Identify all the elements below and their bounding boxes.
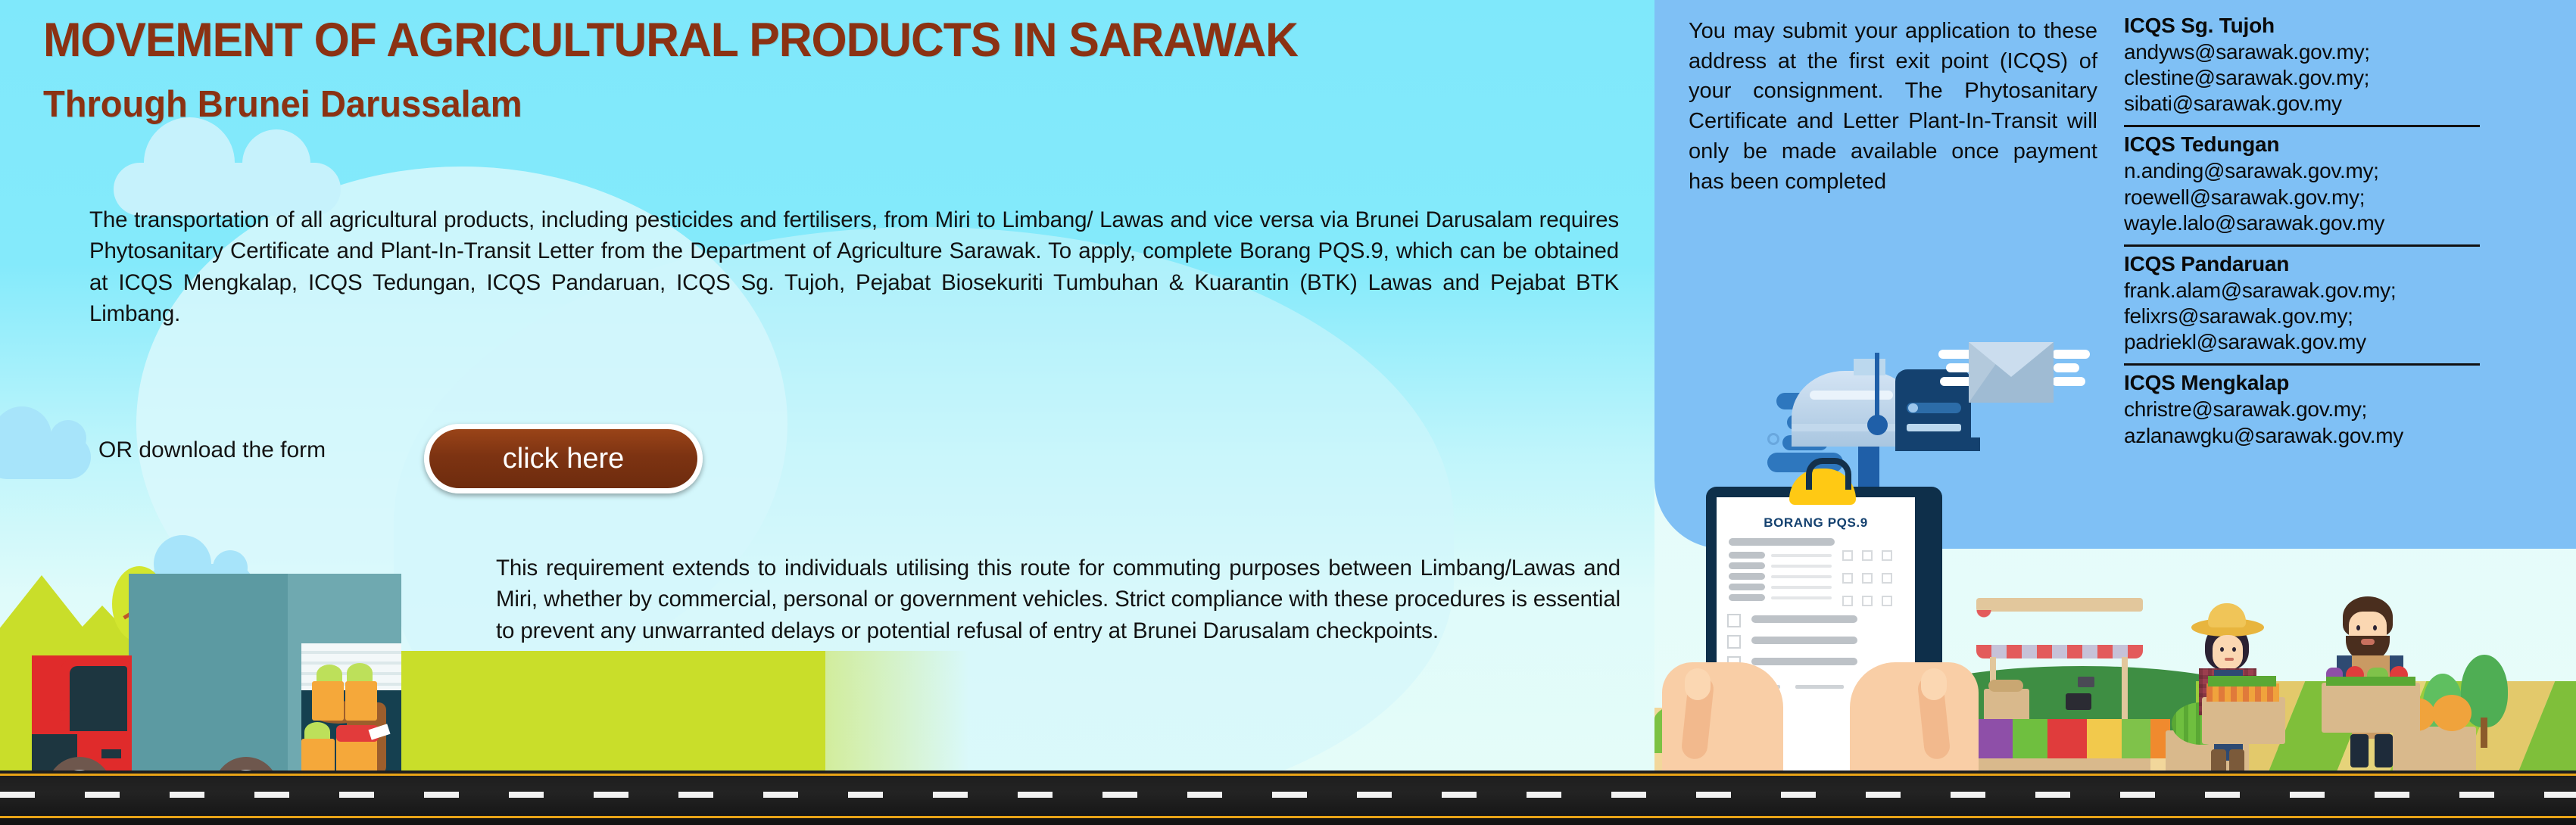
contact-block: ICQS Tedungan n.anding@sarawak.gov.my; r… (2124, 125, 2480, 240)
farmer-m-boot-right (2375, 734, 2393, 767)
cargo-box-2 (345, 681, 377, 721)
form-checkbox[interactable] (1882, 596, 1892, 606)
banner-canvas: MOVEMENT OF AGRICULTURAL PRODUCTS IN SAR… (0, 0, 2576, 825)
bubble-ring-1 (1767, 433, 1779, 445)
thumb-left-tip (1685, 668, 1711, 700)
form-bar (1751, 658, 1857, 665)
tree-trunk-right-large (2481, 718, 2487, 748)
form-bar (1729, 594, 1765, 601)
farmer-m-crate (2322, 683, 2420, 733)
form-bar (1751, 615, 1857, 623)
farmer-m-eye-right (2373, 625, 2377, 630)
form-checkbox-large[interactable] (1727, 614, 1741, 627)
farmer-f-mouth (2225, 658, 2234, 661)
form-bar-heading (1729, 538, 1835, 546)
farmer-f-crate (2202, 697, 2285, 744)
thumb-right-tip (1921, 668, 1947, 700)
stall-awning (1976, 610, 2143, 649)
produce-cucumber (2013, 719, 2047, 758)
form-checkbox[interactable] (1882, 550, 1892, 561)
contact-office-name: ICQS Mengkalap (2124, 371, 2480, 395)
panel-note-text: You may submit your application to these… (1689, 17, 2097, 197)
contact-block: ICQS Mengkalap christre@sarawak.gov.my; … (2124, 363, 2480, 453)
scale-display (2078, 677, 2094, 687)
form-checkbox[interactable] (1842, 550, 1853, 561)
grass-field-fade (651, 651, 969, 776)
form-title: BORANG PQS.9 (1717, 515, 1915, 531)
click-here-button[interactable]: click here (424, 424, 703, 493)
download-form-label: OR download the form (98, 437, 326, 463)
truck-mirror (59, 710, 70, 734)
form-line (1771, 565, 1832, 568)
body-paragraph-secondary: This requirement extends to individuals … (496, 553, 1620, 646)
cargo-box-3 (301, 739, 335, 775)
contact-email[interactable]: roewell@sarawak.gov.my; (2124, 185, 2480, 210)
mailbox-flag (1854, 359, 1885, 375)
form-bar (1751, 637, 1857, 644)
contact-list: ICQS Sg. Tujoh andyws@sarawak.gov.my; cl… (2124, 14, 2480, 453)
road-edge-bottom (0, 816, 2576, 818)
contact-block: ICQS Pandaruan frank.alam@sarawak.gov.my… (2124, 244, 2480, 360)
produce-tomato (2047, 719, 2087, 758)
road-center-dashes (0, 792, 2576, 798)
contact-email[interactable]: azlanawgku@sarawak.gov.my (2124, 423, 2480, 449)
road-edge-top (0, 774, 2576, 776)
stall-sack (1988, 680, 2023, 692)
female-farmer-icon (2188, 602, 2302, 776)
form-line (1771, 554, 1832, 557)
farmer-m-boot-left (2350, 734, 2369, 767)
contact-office-name: ICQS Pandaruan (2124, 252, 2480, 276)
contact-email[interactable]: sibati@sarawak.gov.my (2124, 91, 2480, 117)
farmer-f-greens (2208, 676, 2276, 686)
clipboard-clip-icon (1789, 469, 1856, 505)
contact-email[interactable]: christre@sarawak.gov.my; (2124, 397, 2480, 422)
form-line (1771, 586, 1832, 589)
truck-window (70, 666, 127, 731)
contact-email[interactable]: frank.alam@sarawak.gov.my; (2124, 278, 2480, 304)
market-stall-icon (1976, 598, 2143, 734)
truck-door-handle (101, 749, 121, 758)
form-line (1771, 596, 1832, 599)
envelope-wing-left-2 (1946, 363, 1972, 372)
mailbox-flag-pole (1875, 353, 1879, 421)
form-bar (1729, 584, 1765, 590)
page-title: MOVEMENT OF AGRICULTURAL PRODUCTS IN SAR… (43, 17, 1555, 64)
farmer-f-hat-crown (2208, 603, 2246, 627)
stall-awning-scallop (1976, 645, 2143, 658)
signature-line-right (1795, 685, 1844, 689)
contact-email[interactable]: clestine@sarawak.gov.my; (2124, 65, 2480, 91)
form-bar (1729, 573, 1765, 580)
flying-envelope-icon (1938, 333, 2090, 416)
form-checkbox[interactable] (1862, 573, 1873, 584)
farmer-f-eye-right (2232, 647, 2236, 652)
form-line (1771, 575, 1832, 578)
male-farmer-icon (2325, 592, 2446, 777)
farmer-m-mouth (2361, 639, 2375, 645)
envelope-wing-right-3 (2052, 377, 2085, 386)
cargo-lettuce-2 (347, 663, 373, 683)
form-bar (1729, 562, 1765, 569)
form-checkbox-large[interactable] (1727, 635, 1741, 649)
envelope-wing-right-1 (2052, 350, 2090, 359)
farmer-m-eye-left (2356, 625, 2360, 630)
form-checkbox[interactable] (1862, 596, 1873, 606)
contact-email[interactable]: wayle.lalo@sarawak.gov.my (2124, 210, 2480, 236)
cloud-icon-left (0, 435, 91, 479)
farmer-f-face (2213, 635, 2243, 670)
stall-leg-right (2122, 657, 2128, 724)
weighing-scale-icon (2066, 693, 2091, 710)
form-checkbox[interactable] (1842, 573, 1853, 584)
contact-email[interactable]: padriekl@sarawak.gov.my (2124, 329, 2480, 355)
contact-block: ICQS Sg. Tujoh andyws@sarawak.gov.my; cl… (2124, 14, 2480, 121)
farmer-f-eye-left (2220, 647, 2224, 652)
page-subtitle: Through Brunei Darussalam (43, 83, 522, 126)
contact-office-name: ICQS Tedungan (2124, 132, 2480, 157)
body-paragraph-primary: The transportation of all agricultural p… (89, 204, 1619, 329)
mailbox-flag-knob (1867, 415, 1888, 435)
envelope-flap (1969, 342, 2054, 377)
form-checkbox[interactable] (1882, 573, 1892, 584)
produce-cabbage (2122, 719, 2150, 758)
contact-office-name: ICQS Sg. Tujoh (2124, 14, 2480, 38)
produce-corn (2087, 719, 2122, 758)
produce-greens-held (2326, 677, 2415, 686)
delivery-truck-icon (15, 574, 500, 801)
mailbox-slot-line (1907, 424, 1961, 431)
form-bar (1729, 552, 1765, 559)
contact-email[interactable]: n.anding@sarawak.gov.my; (2124, 158, 2480, 184)
cargo-box-1 (312, 681, 344, 721)
contact-email[interactable]: felixrs@sarawak.gov.my; (2124, 304, 2480, 329)
mailbox-stripe-top (1810, 391, 1893, 400)
form-checkbox[interactable] (1862, 550, 1873, 561)
envelope-wing-right-2 (2054, 363, 2079, 372)
contact-email[interactable]: andyws@sarawak.gov.my; (2124, 39, 2480, 65)
form-checkbox[interactable] (1842, 596, 1853, 606)
